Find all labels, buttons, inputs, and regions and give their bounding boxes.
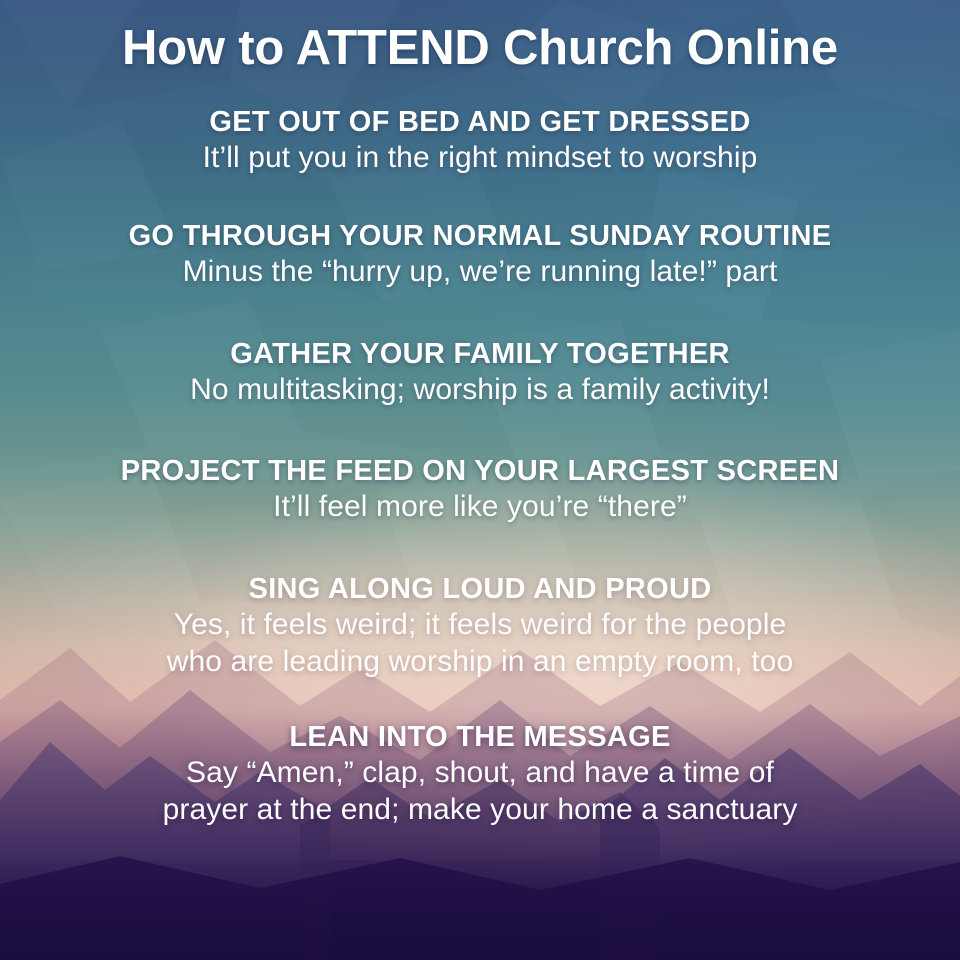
tip-body-line: who are leading worship in an empty room…: [167, 644, 794, 681]
tip-item: PROJECT THE FEED ON YOUR LARGEST SCREEN …: [14, 456, 946, 526]
tip-body-line: Yes, it feels weird; it feels weird for …: [167, 607, 794, 644]
tip-body: Say “Amen,” clap, shout, and have a time…: [163, 755, 798, 828]
poster-canvas: How to ATTEND Church Online GET OUT OF B…: [0, 0, 960, 960]
tip-item: GATHER YOUR FAMILY TOGETHER No multitask…: [14, 339, 946, 409]
tip-body-line: prayer at the end; make your home a sanc…: [163, 792, 798, 829]
tip-body-line: No multitasking; worship is a family act…: [190, 372, 770, 409]
tip-item: GET OUT OF BED AND GET DRESSED It’ll put…: [14, 107, 946, 177]
tip-body-line: Minus the “hurry up, we’re running late!…: [183, 254, 778, 291]
page-title: How to ATTEND Church Online: [122, 24, 838, 73]
tip-item: SING ALONG LOUD AND PROUD Yes, it feels …: [14, 574, 946, 681]
tip-body-line: It’ll put you in the right mindset to wo…: [203, 140, 758, 177]
tip-heading: LEAN INTO THE MESSAGE: [289, 722, 670, 753]
tip-body: It’ll put you in the right mindset to wo…: [203, 140, 758, 177]
tip-body: Yes, it feels weird; it feels weird for …: [167, 607, 794, 680]
tip-heading: GET OUT OF BED AND GET DRESSED: [209, 107, 750, 138]
tip-heading: SING ALONG LOUD AND PROUD: [249, 574, 712, 605]
tip-heading: PROJECT THE FEED ON YOUR LARGEST SCREEN: [121, 456, 840, 487]
tip-body: No multitasking; worship is a family act…: [190, 372, 770, 409]
tip-body-line: Say “Amen,” clap, shout, and have a time…: [163, 755, 798, 792]
tip-heading: GATHER YOUR FAMILY TOGETHER: [230, 339, 730, 370]
tip-item: LEAN INTO THE MESSAGE Say “Amen,” clap, …: [14, 722, 946, 829]
tip-heading: GO THROUGH YOUR NORMAL SUNDAY ROUTINE: [129, 221, 832, 252]
tip-item: GO THROUGH YOUR NORMAL SUNDAY ROUTINE Mi…: [14, 221, 946, 291]
tip-body: It’ll feel more like you’re “there”: [273, 489, 687, 526]
poster-content: How to ATTEND Church Online GET OUT OF B…: [0, 0, 960, 960]
tip-body-line: It’ll feel more like you’re “there”: [273, 489, 687, 526]
tip-body: Minus the “hurry up, we’re running late!…: [183, 254, 778, 291]
